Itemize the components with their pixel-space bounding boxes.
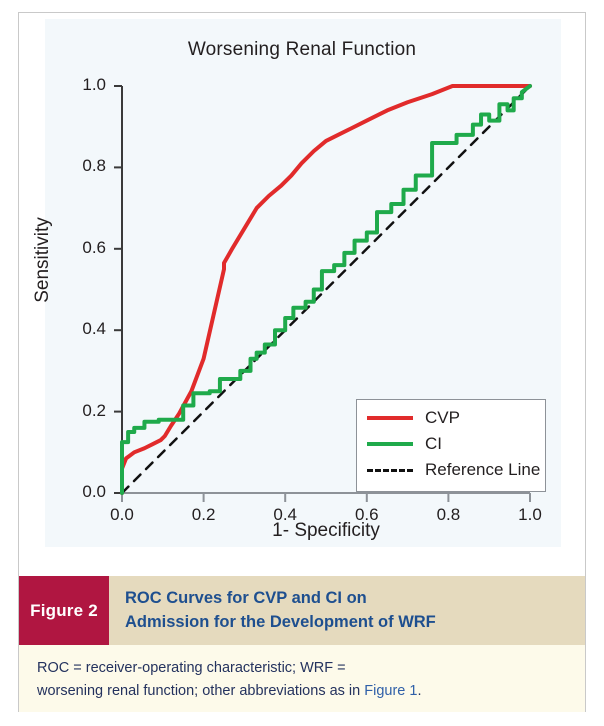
legend-swatch-ci [367,442,413,446]
note-line-2-pre: worsening renal function; other abbrevia… [37,683,364,699]
figure-caption-title: ROC Curves for CVP and CI on Admission f… [125,587,565,635]
legend-label-reference-line: Reference Line [425,460,540,480]
legend-item-reference-line: Reference Line [367,458,540,482]
caption-line-2: Admission for the Development of WRF [125,611,565,635]
x-tick-label: 0.8 [418,505,478,525]
chart-legend: CVP CI Reference Line [356,399,546,492]
note-line-1: ROC = receiver-operating characteristic;… [37,657,557,680]
x-tick-label: 1.0 [500,505,560,525]
caption-line-1: ROC Curves for CVP and CI on [125,587,565,611]
legend-swatch-reference-line [367,469,413,472]
x-tick-label: 0.6 [337,505,397,525]
x-tick-label: 0.4 [255,505,315,525]
legend-label-ci: CI [425,434,442,454]
legend-label-cvp: CVP [425,408,460,428]
legend-item-cvp: CVP [367,406,460,430]
y-tick-label: 1.0 [54,75,106,95]
figure-1-reference: Figure 1 [364,683,417,699]
legend-swatch-cvp [367,416,413,420]
y-tick-label: 0.4 [54,319,106,339]
y-tick-label: 0.0 [54,482,106,502]
y-tick-label: 0.6 [54,238,106,258]
figure-note-bar: ROC = receiver-operating characteristic;… [19,645,585,712]
y-axis-label: Sensitivity [32,170,54,350]
y-tick-label: 0.2 [54,401,106,421]
y-tick-label: 0.8 [54,156,106,176]
figure-number-label: Figure 2 [30,601,98,621]
x-tick-label: 0.0 [92,505,152,525]
legend-item-ci: CI [367,432,442,456]
note-line-2-post: . [417,683,421,699]
x-tick-label: 0.2 [174,505,234,525]
chart-panel: Worsening Renal Function Sensitivity 1- … [19,13,585,554]
figure-card: Worsening Renal Function Sensitivity 1- … [0,0,604,726]
note-line-2: worsening renal function; other abbrevia… [37,680,557,703]
figure-number-badge: Figure 2 [19,576,109,645]
figure-caption-bar: Figure 2 ROC Curves for CVP and CI on Ad… [19,576,585,645]
figure-note-text: ROC = receiver-operating characteristic;… [37,657,557,703]
